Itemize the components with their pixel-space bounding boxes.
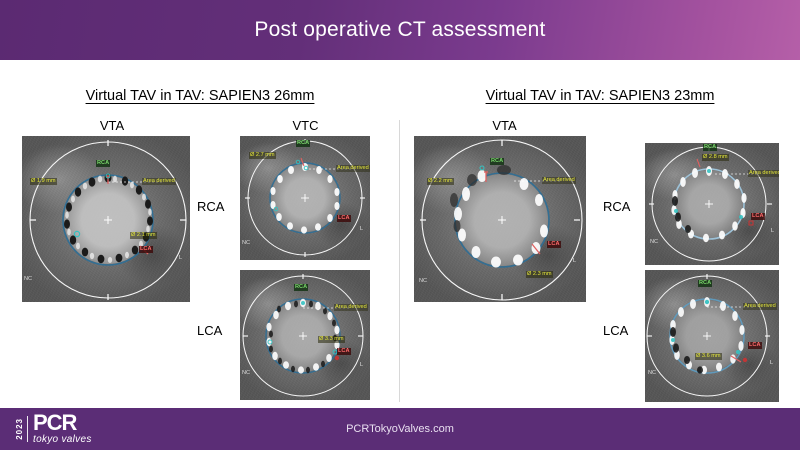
lca-label: LCA <box>337 348 351 355</box>
rca-label: RCA <box>296 140 310 147</box>
lca-label: LCA <box>139 246 153 253</box>
rca-label: RCA <box>490 158 504 165</box>
logo-text: PCR tokyo valves <box>33 413 92 445</box>
column-heading-right: Virtual TAV in TAV: SAPIEN3 23mm <box>420 88 780 104</box>
logo-year: 2023 <box>16 418 24 440</box>
footer-bar: PCRTokyoValves.com 2023 PCR tokyo valves <box>0 408 800 450</box>
nc-label: NC <box>23 276 33 283</box>
lca-label: LCA <box>337 215 351 222</box>
row-label-left-rca: RCA <box>197 199 224 214</box>
slide: Post operative CT assessment Virtual TAV… <box>0 0 800 450</box>
area-derived-label: Area derived <box>336 165 370 172</box>
rca-label: RCA <box>96 160 110 167</box>
row-label-right-rca: RCA <box>603 199 630 214</box>
measurement-label: Ø 3.6 mm <box>695 353 722 360</box>
ct-image-right-vtc-rca: Ø 2.8 mm RCA LCA Area derived NC L <box>645 143 779 265</box>
ct-image-right-vta: Ø 2.2 mm Ø 2.3 mm RCA LCA Area derived N… <box>414 136 586 302</box>
ct-overlay-right-vtc-rca <box>645 143 779 265</box>
measurement-label: Ø 3.3 mm <box>318 336 345 343</box>
logo-brand-secondary: tokyo valves <box>33 434 92 445</box>
lca-label: LCA <box>751 213 765 220</box>
panel-title-left-vta: VTA <box>22 118 202 133</box>
ct-image-left-vta: Ø 1.9 mm Ø 2.1 mm RCA LCA Area derived N… <box>22 136 190 302</box>
nc-label: NC <box>647 370 657 377</box>
rca-label: RCA <box>294 284 308 291</box>
pcr-logo: 2023 PCR tokyo valves <box>16 414 92 444</box>
panel-title-left-vtc: VTC <box>238 118 373 133</box>
measurement-label: Ø 2.7 mm <box>249 152 276 159</box>
column-divider <box>399 120 400 402</box>
measurement-label: Ø 2.2 mm <box>427 178 454 185</box>
lca-label: LCA <box>547 241 561 248</box>
rca-label: RCA <box>703 144 717 151</box>
measurement-label: Ø 2.8 mm <box>702 154 729 161</box>
panel-title-right-vta: VTA <box>412 118 597 133</box>
l-label: L <box>769 360 774 367</box>
ct-image-left-vtc-lca: Ø 3.3 mm RCA LCA Area derived NC L <box>240 270 370 400</box>
area-derived-label: Area derived <box>743 303 777 310</box>
rca-label: RCA <box>698 280 712 287</box>
nc-label: NC <box>241 240 251 247</box>
title-bar: Post operative CT assessment <box>0 0 800 60</box>
row-label-left-lca: LCA <box>197 323 222 338</box>
nc-label: NC <box>241 370 251 377</box>
page-title: Post operative CT assessment <box>0 0 800 60</box>
ct-overlay-right-vtc-lca <box>645 270 779 402</box>
l-label: L <box>770 228 775 235</box>
nc-label: NC <box>649 239 659 246</box>
area-derived-label: Area derived <box>334 304 368 311</box>
ct-image-left-vtc-rca: Ø 2.7 mm RCA LCA Area derived NC L <box>240 136 370 260</box>
row-label-right-lca: LCA <box>603 323 628 338</box>
l-label: L <box>359 226 364 233</box>
ct-image-right-vtc-lca: Ø 3.6 mm RCA LCA Area derived NC L <box>645 270 779 402</box>
l-label: L <box>178 255 183 262</box>
l-label: L <box>359 362 364 369</box>
area-derived-label: Area derived <box>748 170 779 177</box>
logo-divider <box>27 416 28 442</box>
logo-brand-primary: PCR <box>33 413 92 434</box>
l-label: L <box>572 258 577 265</box>
footer-url[interactable]: PCRTokyoValves.com <box>0 408 800 450</box>
lca-label: LCA <box>748 342 762 349</box>
measurement-label: Ø 2.3 mm <box>526 271 553 278</box>
area-derived-label: Area derived <box>542 177 576 184</box>
area-derived-label: Area derived <box>142 178 176 185</box>
nc-label: NC <box>418 278 428 285</box>
column-heading-left: Virtual TAV in TAV: SAPIEN3 26mm <box>20 88 380 104</box>
measurement-label: Ø 1.9 mm <box>30 178 57 185</box>
measurement-label: Ø 2.1 mm <box>130 232 157 239</box>
